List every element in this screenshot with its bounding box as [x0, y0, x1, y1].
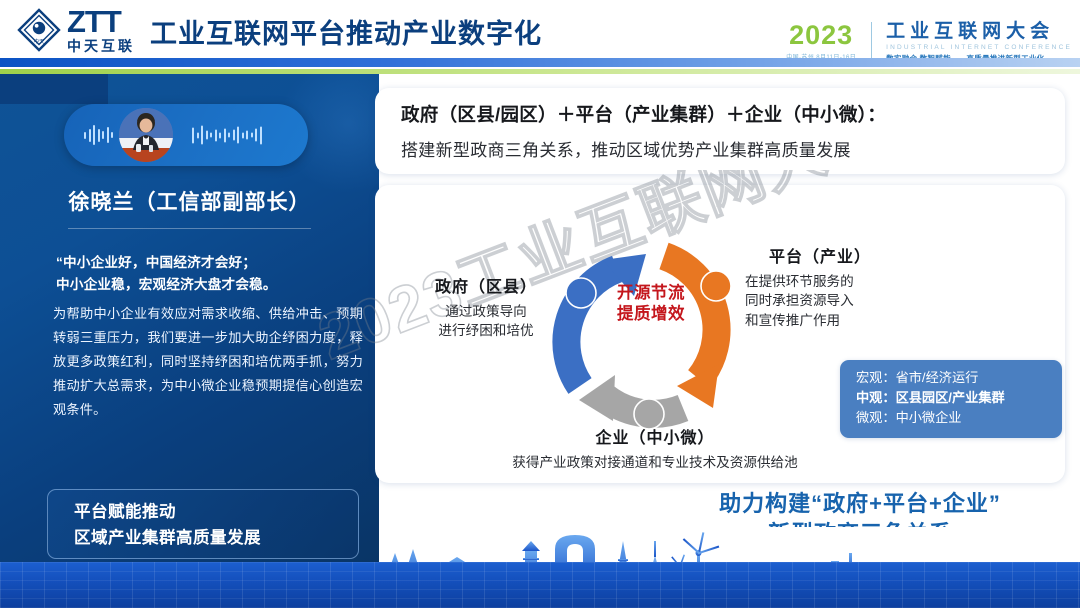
node-label-government: 政府（区县） 通过政策导向 进行纾困和培优	[396, 273, 576, 341]
scope-value-macro: 省市/经济运行	[896, 370, 979, 385]
conference-english-name: INDUSTRIAL INTERNET CONFERENCE	[886, 44, 1072, 51]
avatar	[119, 108, 173, 162]
conference-year-block: 2023 中国·苏州 8月11日-16日	[786, 22, 863, 61]
audio-waveform-icon-right	[192, 126, 262, 145]
summary-card: 政府（区县/园区）＋平台（产业集群）＋企业（中小微）： 搭建新型政商三角关系，推…	[375, 88, 1065, 174]
arrow-platform	[664, 256, 731, 408]
speaker-quote-headline: “中小企业好，中国经济才会好； 中小企业稳，宏观经济大盘才会稳。	[56, 252, 356, 297]
node-label-platform: 平台（产业） 在提供环节服务的 同时承担资源导入 和宣传推广作用	[745, 243, 945, 330]
node-desc-government: 通过政策导向 进行纾困和培优	[396, 302, 576, 341]
audio-waveform-icon	[84, 125, 113, 145]
sidebar-corner-block	[0, 74, 108, 104]
brand-logo: 中天 ZTT 中天互联	[16, 6, 135, 53]
node-title-platform: 平台（产业）	[745, 243, 895, 267]
quote-head-line1: “中小企业好，中国经济才会好；	[56, 252, 356, 274]
cycle-center-text: 开源节流 提质增效	[586, 283, 716, 325]
ground-grid-band	[0, 562, 1080, 608]
cycle-center-line1: 开源节流	[586, 283, 716, 304]
scope-label-macro: 宏观：	[856, 370, 896, 385]
summary-card-line2: 搭建新型政商三角关系，推动区域优势产业集群高质量发展	[401, 136, 1065, 161]
audio-quote-pill[interactable]	[64, 104, 308, 166]
page-header: 中天 ZTT 中天互联 工业互联网平台推动产业数字化 2023 中国·苏州 8月…	[0, 0, 1080, 58]
scope-value-micro: 中小微企业	[896, 410, 962, 425]
sidebar-divider	[68, 228, 311, 229]
page-title: 工业互联网平台推动产业数字化	[150, 12, 542, 51]
node-title-government: 政府（区县）	[396, 273, 576, 297]
ground-grid-lines	[0, 562, 1080, 608]
scope-label-micro: 微观：	[856, 410, 896, 425]
node-label-enterprise: 企业（中小微） 获得产业政策对接通道和专业技术及资源供给池	[440, 424, 870, 472]
brand-cn-text: 中天互联	[67, 39, 135, 53]
conference-year: 2023	[786, 22, 856, 49]
scope-label-meso: 中观：	[856, 390, 896, 405]
arrow-enterprise	[579, 375, 683, 429]
quote-head-line2: 中小企业稳，宏观经济大盘才会稳。	[56, 274, 356, 296]
scope-info-box: 宏观：省市/经济运行 中观：区县园区/产业集群 微观：中小微企业	[840, 360, 1062, 438]
node-desc-government-l1: 通过政策导向	[396, 302, 576, 321]
node-title-enterprise: 企业（中小微）	[440, 424, 870, 448]
node-desc-enterprise: 获得产业政策对接通道和专业技术及资源供给池	[440, 453, 870, 472]
sidebar-cta-box: 平台赋能推动 区域产业集群高质量发展	[47, 489, 359, 559]
bottom-headline-line1: 助力构建“政府+平台+企业”	[660, 489, 1060, 519]
speaker-name: 徐晓兰（工信部副部长）	[0, 186, 379, 216]
node-desc-platform-l2: 同时承担资源导入	[745, 291, 945, 310]
scope-row-meso: 中观：区县园区/产业集群	[856, 388, 1062, 408]
svg-text:中天: 中天	[34, 37, 44, 45]
scope-value-meso: 区县园区/产业集群	[896, 390, 1005, 405]
summary-card-line1: 政府（区县/园区）＋平台（产业集群）＋企业（中小微）：	[401, 101, 1065, 127]
conference-name: 工业互联网大会	[886, 22, 1072, 42]
header-accent-bar-blue	[0, 58, 1080, 67]
scope-row-micro: 微观：中小微企业	[856, 408, 1062, 428]
cycle-center-line2: 提质增效	[586, 304, 716, 325]
ztt-diamond-logo-icon: 中天	[16, 7, 62, 53]
node-desc-government-l2: 进行纾困和培优	[396, 321, 576, 340]
brand-zt-text: ZTT	[67, 6, 135, 37]
speaker-quote-body: 为帮助中小企业有效应对需求收缩、供给冲击、预期转弱三重压力，我们要进一步加大助企…	[53, 302, 363, 422]
scope-row-macro: 宏观：省市/经济运行	[856, 368, 1062, 388]
node-desc-platform-l3: 和宣传推广作用	[745, 311, 945, 330]
node-desc-platform: 在提供环节服务的 同时承担资源导入 和宣传推广作用	[745, 272, 945, 330]
node-desc-platform-l1: 在提供环节服务的	[745, 272, 945, 291]
sidebar-cta-line1: 平台赋能推动	[74, 500, 358, 526]
sidebar-cta-line2: 区域产业集群高质量发展	[74, 526, 358, 552]
